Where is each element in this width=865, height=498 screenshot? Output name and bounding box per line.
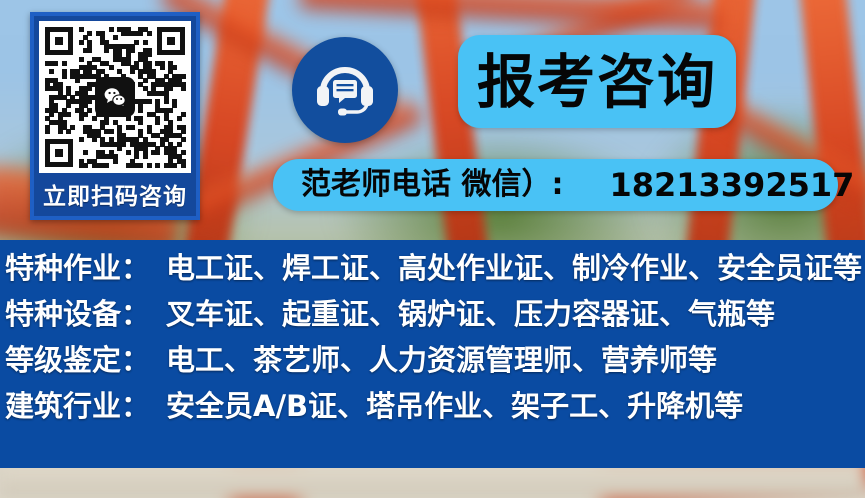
category-row: 特种设备： 叉车证、起重证、锅炉证、压力容器证、气瓶等 — [0, 300, 865, 346]
qr-code-card[interactable]: 立即扫码咨询 — [30, 12, 200, 220]
title-badge: 报考咨询 — [458, 35, 736, 128]
category-row: 建筑行业： 安全员A/B证、塔吊作业、架子工、升降机等 — [0, 392, 865, 438]
contact-label: 范老师电话 微信）: — [301, 170, 563, 200]
qr-finder-bottom-left — [45, 139, 73, 167]
category-name: 特种作业： — [5, 254, 150, 283]
category-list-panel: 特种作业： 电工证、焊工证、高处作业证、制冷作业、安全员证等 特种设备： 叉车证… — [0, 240, 865, 468]
category-items: 叉车证、起重证、锅炉证、压力容器证、气瓶等 — [166, 300, 775, 329]
category-name: 特种设备： — [5, 300, 150, 329]
qr-finder-top-right — [157, 27, 185, 55]
category-items: 安全员A/B证、塔吊作业、架子工、升降机等 — [166, 392, 743, 421]
category-items: 电工、茶艺师、人力资源管理师、营养师等 — [166, 346, 717, 375]
category-name: 等级鉴定： — [5, 346, 150, 375]
promo-banner: 立即扫码咨询 报考咨询 范老师电话 微信）: 18213392517 特 — [0, 0, 865, 498]
headset-support-icon — [292, 37, 398, 143]
qr-code-image — [39, 21, 191, 173]
qr-code-icon — [45, 27, 185, 167]
qr-caption: 立即扫码咨询 — [43, 186, 187, 209]
category-row: 等级鉴定： 电工、茶艺师、人力资源管理师、营养师等 — [0, 346, 865, 392]
category-name: 建筑行业： — [5, 392, 150, 421]
category-row: 特种作业： 电工证、焊工证、高处作业证、制冷作业、安全员证等 — [0, 254, 865, 300]
title-badge-label: 报考咨询 — [477, 53, 717, 111]
contact-pill[interactable]: 范老师电话 微信）: 18213392517 — [273, 159, 838, 211]
contact-phone-number[interactable]: 18213392517 — [609, 169, 854, 201]
category-items: 电工证、焊工证、高处作业证、制冷作业、安全员证等 — [166, 254, 862, 283]
qr-finder-top-left — [45, 27, 73, 55]
